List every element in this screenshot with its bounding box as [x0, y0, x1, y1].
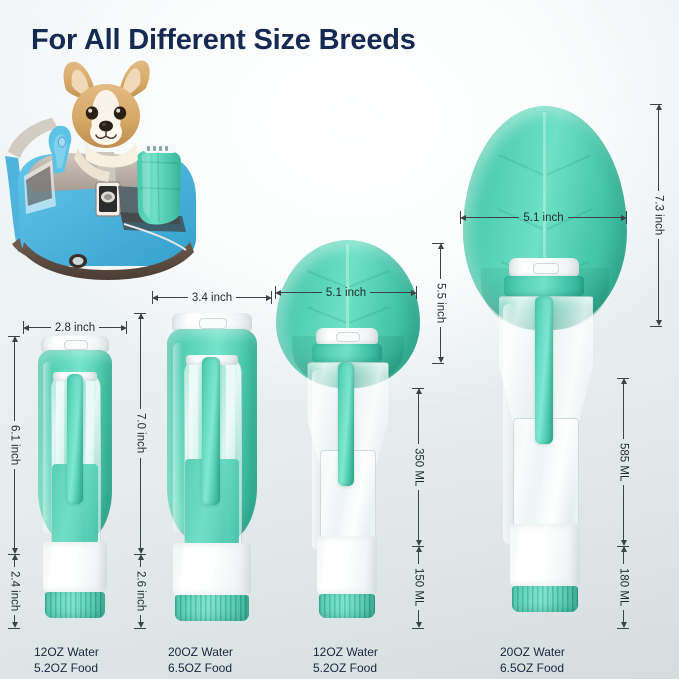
- bottle-3-leaf-height-label: 5.5 inch: [435, 279, 447, 327]
- bottle-4-center-strap: [535, 296, 553, 444]
- bottle-1-width-label: 2.8 inch: [51, 322, 99, 334]
- bottle-2-width-cap-left: [152, 291, 153, 304]
- bottle-4-food-compartment: [510, 524, 580, 586]
- bottle-4-food-capacity-label: 180 ML: [618, 564, 630, 610]
- dog-carrier-illustration: [0, 56, 230, 286]
- product-bottle-1: [36, 336, 114, 620]
- product-bottle-2: [166, 313, 258, 621]
- bottle-2-base-dimension: 2.6 inch: [134, 554, 147, 628]
- bottle-1-width-cap-right: [126, 321, 127, 334]
- bottle-1-cap-bottom: [8, 628, 20, 629]
- bottle-2-width-dimension: 3.4 inch: [152, 291, 272, 304]
- bottle-2-cap-mid: [134, 554, 146, 555]
- bottle-3-lid-tab: [336, 332, 360, 342]
- bottle-3-caption-line2: 5.2OZ Food: [313, 661, 378, 677]
- bottle-1-ribbed-base: [45, 592, 105, 618]
- bottle-3-ml-cap-bottom: [412, 628, 424, 629]
- bottle-4-ribbed-base: [512, 586, 578, 612]
- bottle-2-caption: 20OZ Water 6.5OZ Food: [168, 645, 233, 676]
- bottle-3-water-capacity-label: 350 ML: [413, 444, 425, 490]
- bottle-1-caption: 12OZ Water 5.2OZ Food: [34, 645, 99, 676]
- bottle-1-height-label: 6.1 inch: [9, 421, 21, 469]
- bottle-3-center-strap: [338, 362, 354, 486]
- bottle-4-leafcap-bottom: [650, 326, 662, 327]
- bottle-1-height-dimension: 6.1 inch: [8, 336, 21, 554]
- bottle-3-leaf-width-label: 5.1 inch: [322, 287, 370, 299]
- dog-in-carrier-photo: [0, 56, 230, 286]
- bottle-2-food-compartment: [173, 543, 251, 595]
- bottle-3-width-cap-left: [275, 286, 276, 299]
- bottle-4-caption-line1: 20OZ Water: [500, 645, 565, 661]
- bottle-1-cap-mid: [8, 554, 20, 555]
- bottle-3-caption-line1: 12OZ Water: [313, 645, 378, 661]
- bottle-3-leaf-height-dimension: 5.5 inch: [434, 243, 447, 363]
- bottle-3-width-cap-right: [416, 286, 417, 299]
- bottle-1-caption-line1: 12OZ Water: [34, 645, 99, 661]
- bottle-1-width-dimension: 2.8 inch: [23, 321, 127, 334]
- bottle-4-water-capacity-dimension: 585 ML: [617, 378, 630, 546]
- bottle-2-center-strap: [202, 357, 220, 505]
- bottle-2-height-dimension: 7.0 inch: [134, 313, 147, 554]
- bottle-2-lid-tab: [199, 318, 227, 329]
- infographic-canvas: For All Different Size Breeds: [0, 0, 679, 679]
- bottle-4-width-cap-left: [460, 211, 461, 224]
- bottle-2-caption-line1: 20OZ Water: [168, 645, 233, 661]
- bottle-1-cap-top: [8, 336, 20, 337]
- bottle-4-caption: 20OZ Water 6.5OZ Food: [500, 645, 565, 676]
- bottle-3-caption: 12OZ Water 5.2OZ Food: [313, 645, 378, 676]
- bottle-3-ml-cap-top: [412, 388, 424, 389]
- bottle-2-caption-line2: 6.5OZ Food: [168, 661, 233, 677]
- bottle-4-leafcap-top: [650, 104, 662, 105]
- bottle-4-ml-cap-mid: [617, 546, 629, 547]
- bottle-3-ml-cap-mid: [412, 546, 424, 547]
- bottle-3-water-capacity-dimension: 350 ML: [412, 388, 425, 546]
- bottle-4-food-capacity-dimension: 180 ML: [617, 546, 630, 628]
- bottle-4-leaf-width-label: 5.1 inch: [519, 212, 567, 224]
- bottle-4-lid-tab: [533, 263, 559, 274]
- bottle-1-base-dimension: 2.4 inch: [8, 554, 21, 628]
- bottle-1-base-label: 2.4 inch: [9, 567, 21, 615]
- bottle-1-width-cap-left: [23, 321, 24, 334]
- bottle-1-center-strap: [67, 374, 83, 504]
- bottle-1-food-compartment: [43, 542, 107, 592]
- bottle-3-leafcap-bottom: [432, 363, 444, 364]
- bottle-4-water-capacity-label: 585 ML: [618, 439, 630, 485]
- bottle-3-teal-collar: [312, 344, 382, 362]
- bottle-4-ml-cap-top: [617, 378, 629, 379]
- bottle-3-leafcap-top: [432, 243, 444, 244]
- bottle-1-caption-line2: 5.2OZ Food: [34, 661, 99, 677]
- bottle-3-food-capacity-dimension: 150 ML: [412, 546, 425, 628]
- bottle-1-lid-tab: [64, 340, 88, 350]
- page-title: For All Different Size Breeds: [31, 24, 416, 57]
- bottle-2-cap-bottom: [134, 628, 146, 629]
- bottle-4-teal-collar: [504, 276, 584, 296]
- bottle-3-ribbed-base: [319, 594, 375, 618]
- bottle-3-leaf-width-dimension: 5.1 inch: [275, 286, 417, 299]
- bottle-2-ribbed-base: [175, 595, 249, 621]
- bottle-4-leaf-height-dimension: 7.3 inch: [652, 104, 665, 326]
- bottle-4-caption-line2: 6.5OZ Food: [500, 661, 565, 677]
- bottle-4-width-cap-right: [626, 211, 627, 224]
- bottle-4-leaf-height-label: 7.3 inch: [653, 191, 665, 239]
- bottle-3-food-compartment: [317, 536, 377, 594]
- bottle-3-food-capacity-label: 150 ML: [413, 564, 425, 610]
- bottle-4-leaf-width-dimension: 5.1 inch: [460, 211, 627, 224]
- bottle-2-height-label: 7.0 inch: [135, 409, 147, 457]
- bottle-4-ml-cap-bottom: [617, 628, 629, 629]
- product-bottle-4: [455, 106, 627, 622]
- bottle-2-width-label: 3.4 inch: [188, 292, 236, 304]
- bottle-2-cap-top: [134, 313, 146, 314]
- bottle-2-base-label: 2.6 inch: [135, 567, 147, 615]
